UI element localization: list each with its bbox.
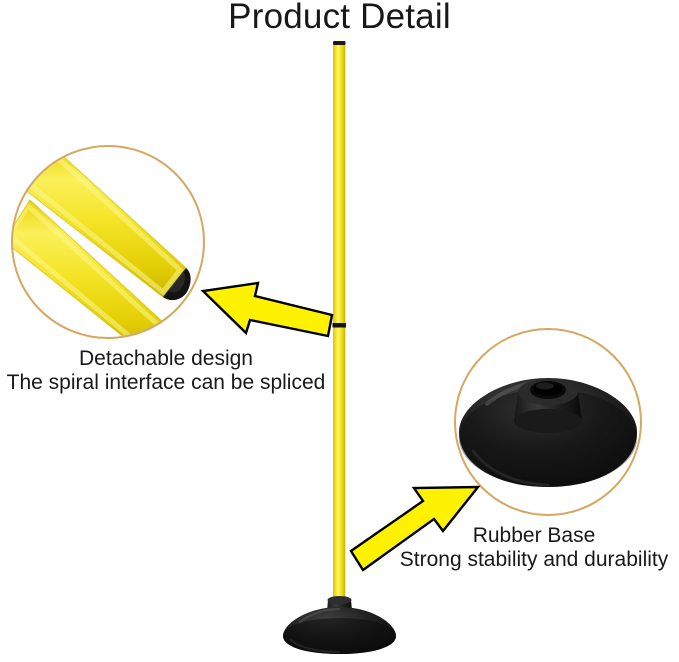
caption-detachable-line-2: The spiral interface can be spliced: [4, 371, 328, 395]
yellow-training-pole: [333, 41, 347, 617]
caption-rubber-line-1: Rubber Base: [392, 524, 676, 548]
callout-rubber-base-inset: [454, 328, 644, 518]
spiral-joint-line: [333, 323, 347, 328]
caption-detachable-design: Detachable design The spiral interface c…: [4, 347, 328, 395]
product-detail-infographic: Product Detail: [0, 0, 679, 662]
callout-detachable-inset: [4, 144, 208, 354]
black-rubber-base: [283, 596, 396, 654]
arrow-pointing-left-to-detachable-inset: [203, 283, 332, 336]
caption-detachable-line-1: Detachable design: [4, 347, 328, 371]
pole-top-cap: [333, 41, 346, 45]
caption-rubber-line-2: Strong stability and durability: [392, 548, 676, 572]
caption-rubber-base: Rubber Base Strong stability and durabil…: [392, 524, 676, 572]
